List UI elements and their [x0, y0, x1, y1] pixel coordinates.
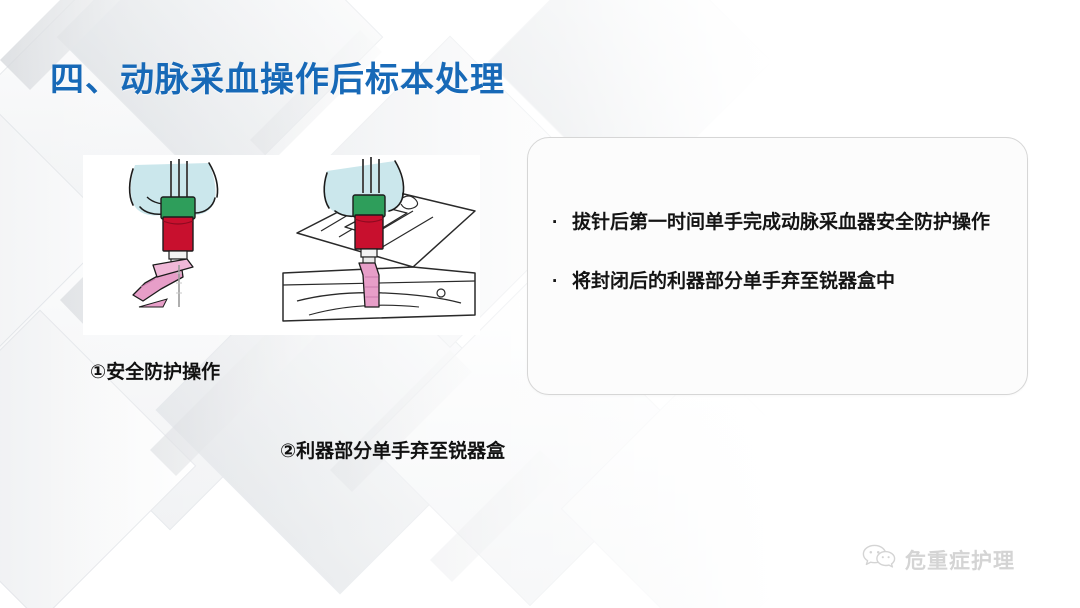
bullet-marker-icon: · — [552, 259, 558, 304]
wechat-logo-icon — [862, 543, 896, 576]
instruction-bullet-list: · 拔针后第一时间单手完成动脉采血器安全防护操作 · 将封闭后的利器部分单手弃至… — [550, 200, 1009, 318]
illustration-image — [83, 155, 480, 335]
list-item: · 将封闭后的利器部分单手弃至锐器盒中 — [550, 259, 1009, 304]
watermark-text: 危重症护理 — [905, 545, 1015, 575]
bullet-text: 拔针后第一时间单手完成动脉采血器安全防护操作 — [572, 200, 1004, 245]
page-title: 四、动脉采血操作后标本处理 — [50, 52, 505, 101]
bullet-marker-icon: · — [552, 200, 558, 245]
watermark: 危重症护理 — [862, 543, 1015, 576]
bullet-text: 将封闭后的利器部分单手弃至锐器盒中 — [572, 259, 1004, 304]
list-item: · 拔针后第一时间单手完成动脉采血器安全防护操作 — [550, 200, 1009, 245]
caption-sharps-disposal: ②利器部分单手弃至锐器盒 — [280, 436, 505, 463]
instruction-textbox: · 拔针后第一时间单手完成动脉采血器安全防护操作 · 将封闭后的利器部分单手弃至… — [527, 137, 1028, 395]
caption-safety-shield: ①安全防护操作 — [90, 357, 220, 384]
slide-canvas: 四、动脉采血操作后标本处理 — [0, 0, 1080, 608]
